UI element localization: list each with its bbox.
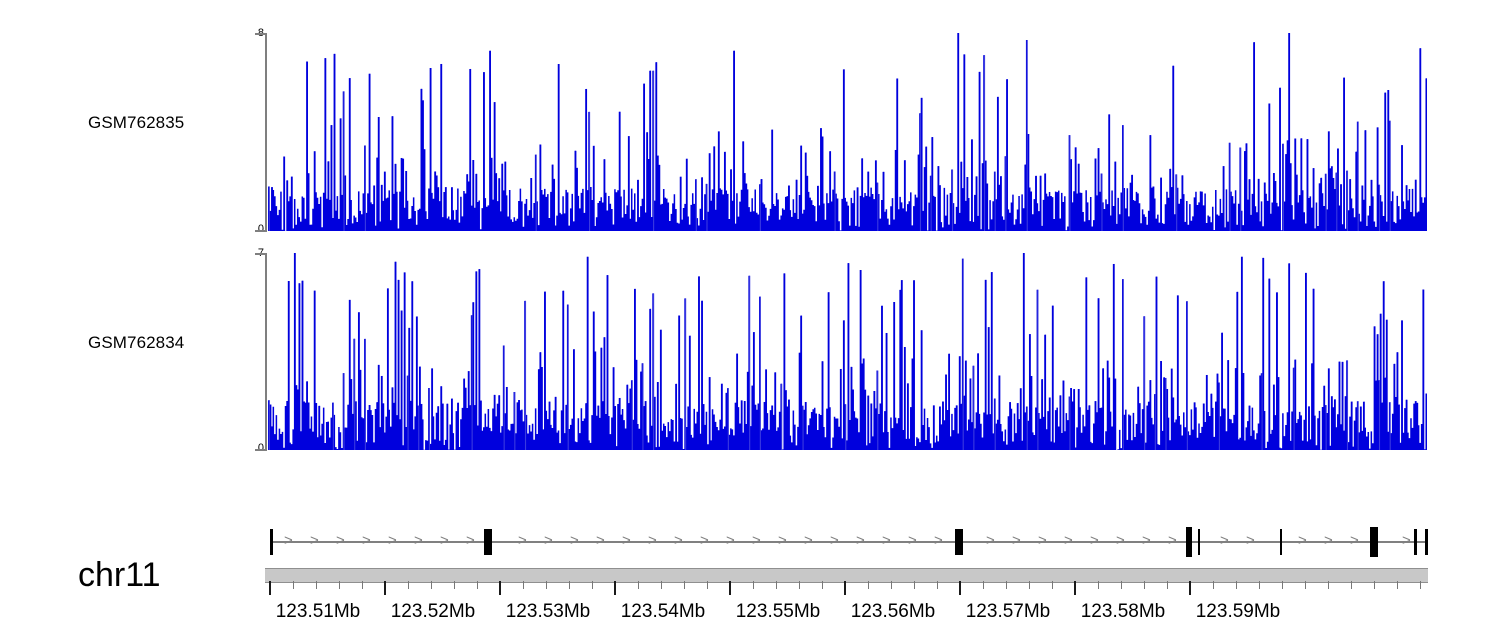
strand-arrow-icon: > (310, 533, 319, 548)
ruler-tick-label: 123.57Mb (966, 601, 1051, 623)
track1-y-axis-tick-min (255, 230, 266, 232)
exon-block[interactable] (955, 529, 963, 555)
ruler-major-tick (499, 581, 501, 595)
ruler-tick-label: 123.54Mb (621, 601, 706, 623)
strand-arrow-icon: > (1402, 533, 1411, 548)
strand-arrow-icon: > (856, 533, 865, 548)
ruler-tick-label: 123.58Mb (1081, 601, 1166, 623)
coverage-signal-svg (268, 253, 1427, 450)
strand-arrow-icon: > (830, 533, 839, 548)
strand-arrow-icon: > (284, 533, 293, 548)
strand-arrow-icon: > (518, 533, 527, 548)
ruler-major-tick (959, 581, 961, 595)
track2-ytick-min: 0 (238, 442, 264, 454)
strand-arrow-icon: > (1324, 533, 1333, 548)
ruler-tick-label: 123.56Mb (851, 601, 936, 623)
strand-arrow-icon: > (466, 533, 475, 548)
track2-y-axis-tick-max (255, 253, 266, 255)
strand-arrow-icon: > (1012, 533, 1021, 548)
strand-arrow-icon: > (362, 533, 371, 548)
coverage-plot-gsm762834[interactable] (268, 253, 1427, 450)
ruler-major-tick (1189, 581, 1191, 595)
genome-browser-viewport: GSM762835 8 0 GSM762834 7 0 >>>>>>>>>>>>… (0, 0, 1500, 640)
strand-arrow-icon: > (934, 533, 943, 548)
strand-arrow-icon: > (622, 533, 631, 548)
track-label-gsm762834: GSM762834 (88, 333, 258, 353)
ruler-major-tick (614, 581, 616, 595)
ruler-major-tick (269, 581, 271, 595)
exon-block[interactable] (1425, 529, 1428, 555)
strand-arrow-icon: > (986, 533, 995, 548)
strand-arrow-icon: > (440, 533, 449, 548)
strand-arrow-icon: > (388, 533, 397, 548)
strand-arrow-icon: > (1246, 533, 1255, 548)
strand-arrow-icon: > (1064, 533, 1073, 548)
track2-y-axis-line (265, 253, 267, 451)
ruler-major-tick (844, 581, 846, 595)
ruler-tick-label: 123.59Mb (1196, 601, 1281, 623)
strand-arrow-icon: > (1142, 533, 1151, 548)
strand-arrow-icon: > (674, 533, 683, 548)
strand-arrow-icon: > (1038, 533, 1047, 548)
track1-y-axis-tick-max (255, 33, 266, 35)
strand-arrow-icon: > (700, 533, 709, 548)
ruler-tick-label: 123.52Mb (391, 601, 476, 623)
strand-arrow-icon: > (336, 533, 345, 548)
ruler-major-tick (729, 581, 731, 595)
strand-arrow-icon: > (596, 533, 605, 548)
strand-arrow-icon: > (726, 533, 735, 548)
exon-block[interactable] (484, 529, 492, 555)
exon-block[interactable] (1186, 527, 1192, 557)
ruler-tick-label: 123.55Mb (736, 601, 821, 623)
strand-arrow-icon: > (414, 533, 423, 548)
strand-arrow-icon: > (778, 533, 787, 548)
track1-y-axis-line (265, 33, 267, 232)
strand-arrow-icon: > (804, 533, 813, 548)
strand-arrow-icon: > (648, 533, 657, 548)
strand-arrow-icon: > (752, 533, 761, 548)
exon-block[interactable] (1198, 529, 1200, 555)
strand-arrow-icon: > (1298, 533, 1307, 548)
strand-arrow-icon: > (544, 533, 553, 548)
strand-arrow-icon: > (1116, 533, 1125, 548)
gene-model-track[interactable]: >>>>>>>>>>>>>>>>>>>>>>>>>>>>>>>>>>>>>>> (0, 515, 1500, 571)
exon-block[interactable] (270, 529, 273, 555)
ideogram-bar[interactable] (265, 568, 1428, 583)
strand-arrow-icon: > (1090, 533, 1099, 548)
strand-arrow-icon: > (570, 533, 579, 548)
track1-ytick-min: 0 (238, 223, 264, 235)
strand-arrow-icon: > (882, 533, 891, 548)
coverage-plot-gsm762835[interactable] (268, 33, 1427, 231)
track2-y-axis-tick-min (255, 449, 266, 451)
chromosome-label: chr11 (78, 556, 161, 595)
ruler-tick-label: 123.53Mb (506, 601, 591, 623)
exon-block[interactable] (1370, 527, 1378, 557)
ruler-major-tick (384, 581, 386, 595)
track-label-gsm762835: GSM762835 (88, 113, 258, 133)
exon-block[interactable] (1414, 529, 1417, 555)
strand-arrow-icon: > (1168, 533, 1177, 548)
ruler-tick-label: 123.51Mb (276, 601, 361, 623)
strand-arrow-icon: > (908, 533, 917, 548)
exon-block[interactable] (1280, 529, 1282, 555)
ruler-major-tick (1074, 581, 1076, 595)
strand-arrow-icon: > (1220, 533, 1229, 548)
coverage-signal-svg (268, 33, 1427, 231)
strand-arrow-icon: > (1350, 533, 1359, 548)
